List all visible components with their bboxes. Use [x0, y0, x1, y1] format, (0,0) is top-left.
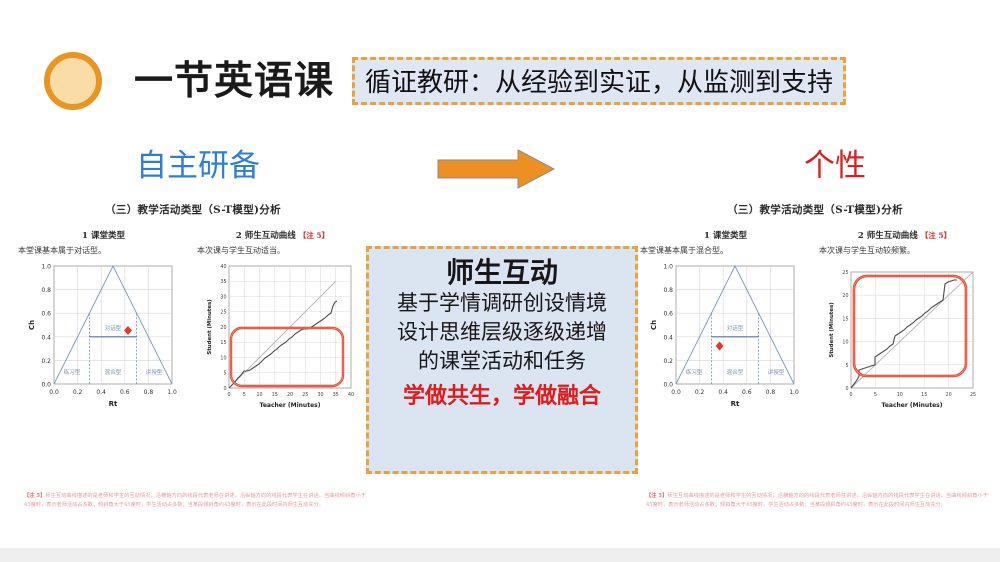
charts-row: 1 课堂类型 本堂课基本属于对话型。 — [14, 229, 372, 426]
svg-text:15: 15 — [921, 392, 927, 398]
interaction-curve-chart-right: 25 20 15 10 5 0 0 5 10 15 20 — [821, 258, 989, 426]
footnote-tag: 【注 5】 — [646, 493, 667, 499]
subhead-left: 自主研备 — [136, 140, 260, 185]
chart-note-tag: 【注 5】 — [921, 231, 951, 240]
svg-text:0.0: 0.0 — [663, 382, 673, 389]
bottom-band — [0, 548, 1000, 562]
svg-text:0.2: 0.2 — [663, 358, 673, 365]
svg-text:讲授型: 讲授型 — [767, 368, 784, 376]
svg-text:0.0: 0.0 — [49, 389, 59, 396]
svg-text:20: 20 — [842, 293, 848, 299]
svg-text:25: 25 — [842, 270, 848, 276]
svg-text:0.2: 0.2 — [72, 389, 82, 396]
svg-text:10: 10 — [896, 392, 902, 398]
svg-text:0.8: 0.8 — [765, 389, 775, 396]
svg-text:0.4: 0.4 — [41, 334, 51, 341]
panel-title: （三）教学活动类型（S-T模型)分析 — [14, 202, 372, 217]
svg-text:1.0: 1.0 — [789, 389, 799, 396]
svg-text:对话型: 对话型 — [726, 324, 743, 332]
st-model-chart-left: 练习型 混合型 讲授型 对话型 1.0 0.8 0.6 0.4 0.2 — [20, 258, 188, 420]
svg-text:0.2: 0.2 — [41, 358, 51, 365]
callout-line-2: 设计思维层级逐级递增 — [377, 319, 627, 348]
svg-text:0.8: 0.8 — [143, 389, 153, 396]
callout-box: 师生互动 基于学情调研创设情境 设计思维层级逐级递增 的课堂活动和任务 学做共生… — [366, 246, 638, 474]
svg-text:5: 5 — [845, 363, 848, 369]
charts-row: 1 课堂类型 本堂课基本属于混合型。 — [636, 229, 994, 426]
svg-text:Ch: Ch — [28, 320, 36, 330]
svg-text:5: 5 — [223, 371, 226, 377]
svg-text:5: 5 — [242, 392, 245, 398]
svg-text:5: 5 — [873, 392, 876, 398]
svg-text:10: 10 — [842, 340, 848, 346]
svg-text:Ch: Ch — [650, 320, 658, 330]
right-arrow-icon — [436, 148, 556, 190]
svg-text:0.6: 0.6 — [663, 311, 673, 318]
svg-text:0.4: 0.4 — [96, 389, 106, 396]
chart-title: 课堂类型 — [91, 231, 125, 241]
svg-text:0: 0 — [223, 386, 226, 392]
panel-title: （三）教学活动类型（S-T模型)分析 — [636, 202, 994, 217]
svg-text:15: 15 — [271, 392, 277, 398]
svg-text:0.8: 0.8 — [663, 287, 673, 294]
svg-text:讲授型: 讲授型 — [145, 368, 162, 376]
svg-text:0.6: 0.6 — [41, 311, 51, 318]
svg-text:练习型: 练习型 — [685, 368, 702, 376]
chart-note-tag: 【注 5】 — [299, 231, 329, 240]
chart-index: 2 — [858, 231, 864, 241]
svg-text:0: 0 — [849, 392, 852, 398]
svg-text:30: 30 — [220, 294, 226, 300]
svg-text:混合型: 混合型 — [726, 368, 743, 376]
chart-title: 课堂类型 — [713, 231, 747, 241]
chart-description: 本次课与学生互动较频繁。 — [819, 245, 994, 256]
callout-line-3: 的课堂活动和任务 — [377, 348, 627, 377]
footnote-left: 【注 5】师生互动曲线描述的是老师和学生的互动情况，沿横轴方向的线段代表老师在讲… — [24, 492, 366, 510]
svg-text:混合型: 混合型 — [104, 368, 121, 376]
subhead-right: 个性 — [804, 140, 866, 185]
svg-text:Student (Minutes): Student (Minutes) — [829, 302, 835, 357]
report-panel-right: （三）教学活动类型（S-T模型)分析 1 课堂类型 本堂课基本属于混合型。 — [636, 196, 994, 548]
svg-text:15: 15 — [842, 316, 848, 322]
svg-text:0.6: 0.6 — [120, 389, 130, 396]
chart-heading: 2 师生互动曲线 【注 5】 — [815, 229, 994, 241]
footnote-right: 【注 5】师生互动曲线描述的是老师和学生的互动情况，沿横轴方向的线段代表老师在讲… — [646, 492, 988, 510]
callout-title: 师生互动 — [377, 255, 627, 290]
chart-title: 师生互动曲线 — [245, 231, 296, 241]
svg-text:0.8: 0.8 — [41, 287, 51, 294]
svg-text:0.4: 0.4 — [663, 334, 673, 341]
chart-description: 本堂课基本属于对话型。 — [18, 245, 193, 256]
svg-text:1.0: 1.0 — [663, 264, 673, 271]
svg-text:20: 20 — [945, 392, 951, 398]
svg-text:对话型: 对话型 — [104, 324, 121, 332]
svg-text:1.0: 1.0 — [41, 264, 51, 271]
svg-text:Teacher (Minutes): Teacher (Minutes) — [881, 402, 942, 409]
chart-index: 1 — [704, 231, 710, 241]
footnote-text: 师生互动曲线描述的是老师和学生的互动情况，沿横轴方向的线段代表老师在讲述，沿纵轴… — [646, 493, 988, 508]
svg-text:Rt: Rt — [730, 400, 739, 408]
svg-text:0: 0 — [227, 392, 230, 398]
chart-index: 2 — [236, 231, 242, 241]
svg-text:0.4: 0.4 — [718, 389, 728, 396]
interaction-curve-chart-left: 40 35 30 25 20 15 10 5 0 0 5 — [199, 258, 367, 426]
callout-highlight: 学做共生，学做融合 — [377, 380, 627, 412]
svg-text:35: 35 — [332, 392, 338, 398]
svg-text:0.2: 0.2 — [694, 389, 704, 396]
chart-column-interaction-curve: 2 师生互动曲线 【注 5】 本次课与学生互动较频繁。 — [815, 229, 994, 426]
svg-text:25: 25 — [969, 392, 975, 398]
svg-text:0.6: 0.6 — [742, 389, 752, 396]
svg-text:Teacher (Minutes): Teacher (Minutes) — [259, 402, 320, 409]
chart-description: 本堂课基本属于混合型。 — [640, 245, 815, 256]
report-panel-left: （三）教学活动类型（S-T模型)分析 1 课堂类型 本堂课基本属于对话型。 — [14, 196, 372, 548]
svg-text:0.0: 0.0 — [671, 389, 681, 396]
chart-description: 本次课与学生互动适当。 — [197, 245, 372, 256]
callout-line-1: 基于学情调研创设情境 — [377, 290, 627, 319]
svg-text:40: 40 — [220, 264, 226, 270]
footnote-tag: 【注 5】 — [24, 493, 45, 499]
filled-circle-icon — [44, 52, 102, 110]
header-banner: 循证教研：从经验到实证，从监测到支持 — [352, 57, 846, 105]
svg-text:Rt: Rt — [108, 400, 117, 408]
svg-text:40: 40 — [347, 392, 353, 398]
svg-text:30: 30 — [317, 392, 323, 398]
svg-text:20: 20 — [286, 392, 292, 398]
chart-column-class-type: 1 课堂类型 本堂课基本属于混合型。 — [636, 229, 815, 426]
chart-index: 1 — [82, 231, 88, 241]
chart-heading: 1 课堂类型 — [14, 229, 193, 241]
slide-canvas: 一节英语课 循证教研：从经验到实证，从监测到支持 自主研备 个性 （三）教学活动… — [0, 0, 1000, 562]
page-title: 一节英语课 — [134, 52, 334, 110]
chart-heading: 2 师生互动曲线 【注 5】 — [193, 229, 372, 241]
svg-text:25: 25 — [220, 310, 226, 316]
footnote-text: 师生互动曲线描述的是老师和学生的互动情况，沿横轴方向的线段代表老师在讲述，沿纵轴… — [24, 493, 366, 508]
svg-text:0: 0 — [845, 386, 848, 392]
svg-text:0.0: 0.0 — [41, 382, 51, 389]
svg-text:10: 10 — [256, 392, 262, 398]
svg-text:Student (Minutes): Student (Minutes) — [207, 299, 213, 354]
svg-text:20: 20 — [220, 325, 226, 331]
svg-text:练习型: 练习型 — [63, 368, 80, 376]
chart-column-class-type: 1 课堂类型 本堂课基本属于对话型。 — [14, 229, 193, 426]
svg-text:10: 10 — [220, 355, 226, 361]
svg-text:25: 25 — [302, 392, 308, 398]
st-model-chart-right: 练习型 混合型 讲授型 对话型 1.0 0.8 0.6 0.4 0.2 0.0 — [642, 258, 810, 420]
chart-heading: 1 课堂类型 — [636, 229, 815, 241]
svg-text:15: 15 — [220, 340, 226, 346]
chart-column-interaction-curve: 2 师生互动曲线 【注 5】 本次课与学生互动适当。 — [193, 229, 372, 426]
svg-text:35: 35 — [220, 279, 226, 285]
svg-text:1.0: 1.0 — [167, 389, 177, 396]
chart-title: 师生互动曲线 — [867, 231, 918, 241]
